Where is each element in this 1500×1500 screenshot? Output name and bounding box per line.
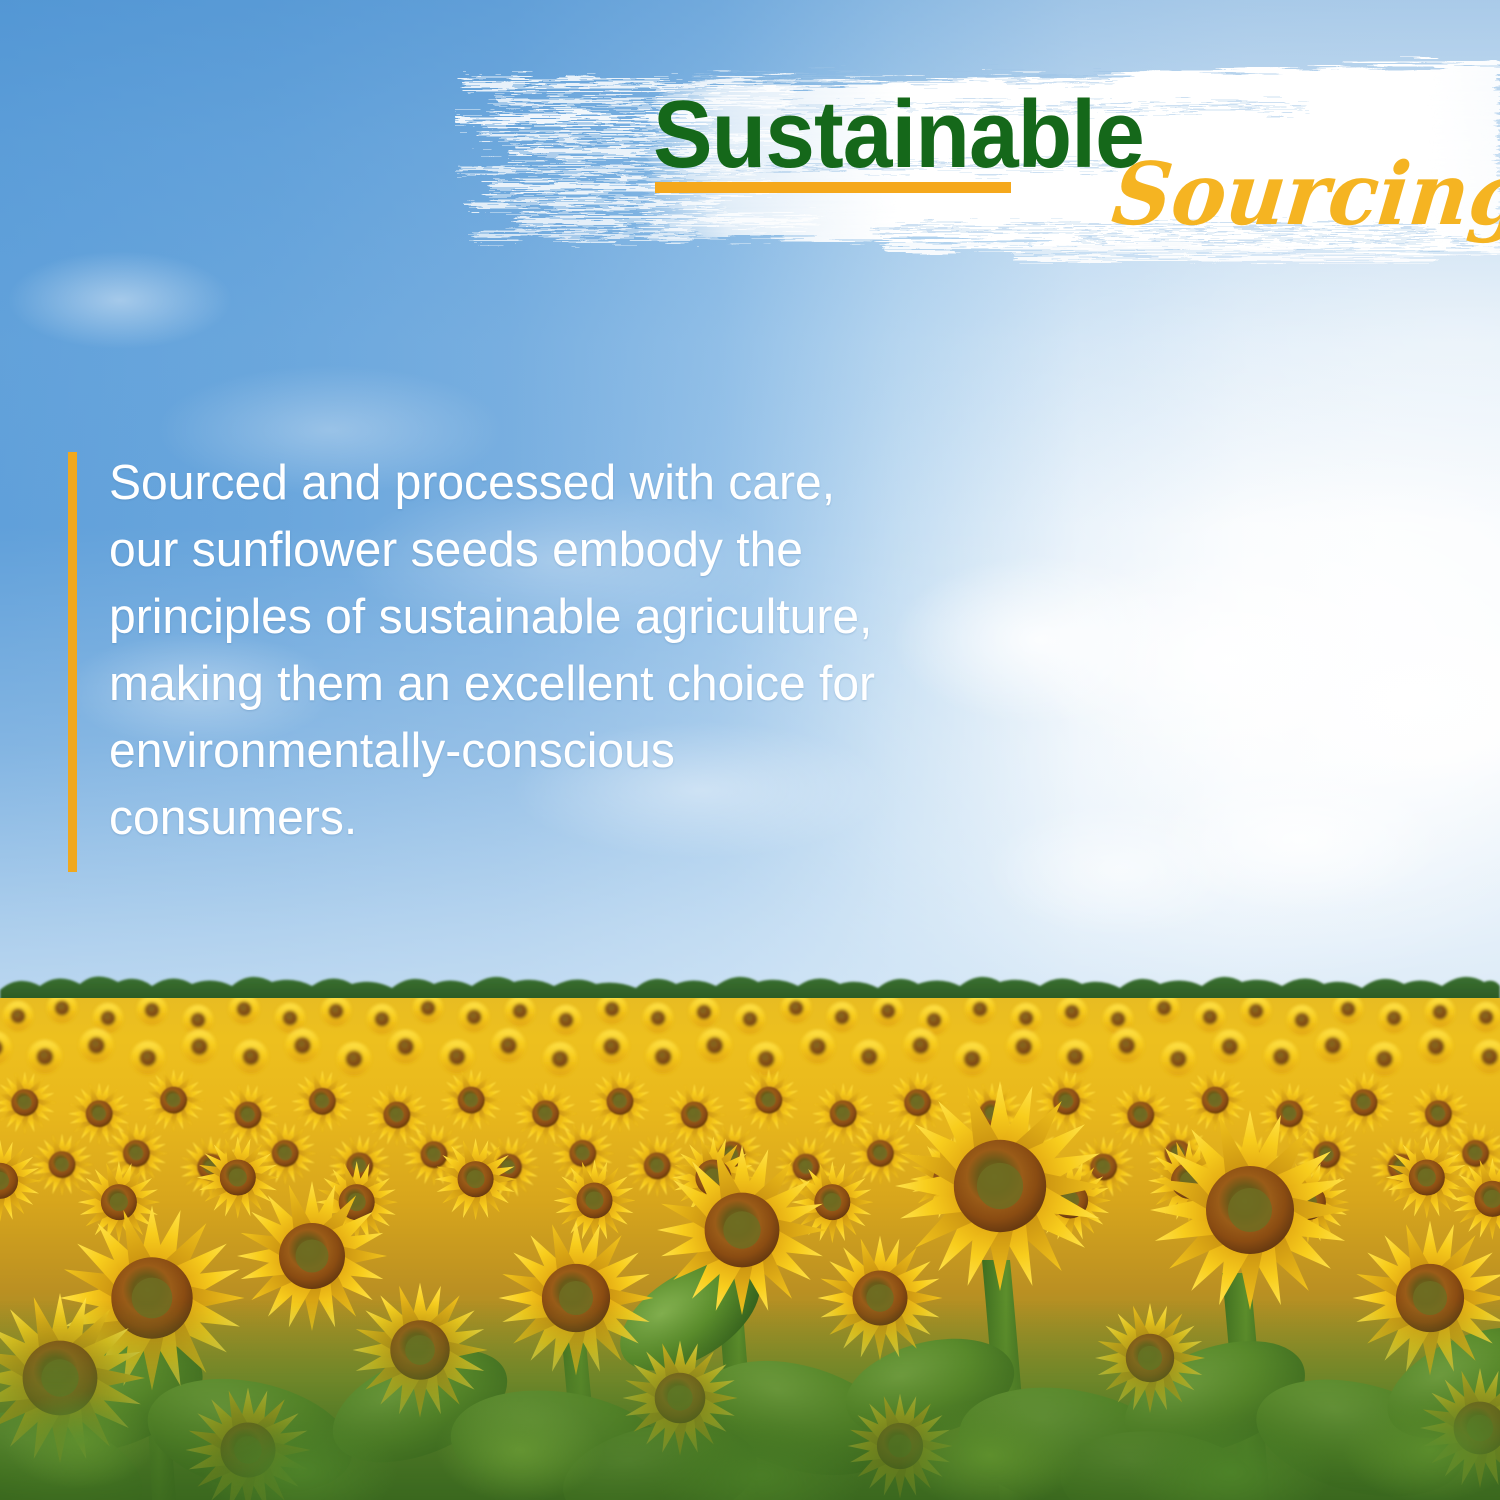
sunflower-field-photo xyxy=(0,968,1500,1500)
title-underline-bar xyxy=(655,182,1011,193)
body-copy-line: making them an excellent choice for xyxy=(109,651,834,718)
body-copy-line: Sourced and processed with care, xyxy=(109,450,834,517)
body-copy-line: our sunflower seeds embody the xyxy=(109,517,834,584)
body-copy-line: principles of sustainable agriculture, xyxy=(109,584,834,651)
title-block: Sustainable Sourcing xyxy=(0,0,1500,300)
body-copy-line: consumers. xyxy=(109,785,834,852)
title-main-sustainable: Sustainable xyxy=(653,87,1144,183)
body-copy-text: Sourced and processed with care, our sun… xyxy=(109,450,834,852)
accent-vertical-bar xyxy=(68,452,77,872)
title-script-sourcing: Sourcing xyxy=(1108,152,1500,238)
sunflower-heads-svg xyxy=(0,998,1500,1500)
body-copy-line: environmentally-conscious xyxy=(109,718,834,785)
sustainable-sourcing-poster: Sustainable Sourcing Sourced and process… xyxy=(0,0,1500,1500)
sunflower-cluster xyxy=(0,998,1500,1500)
